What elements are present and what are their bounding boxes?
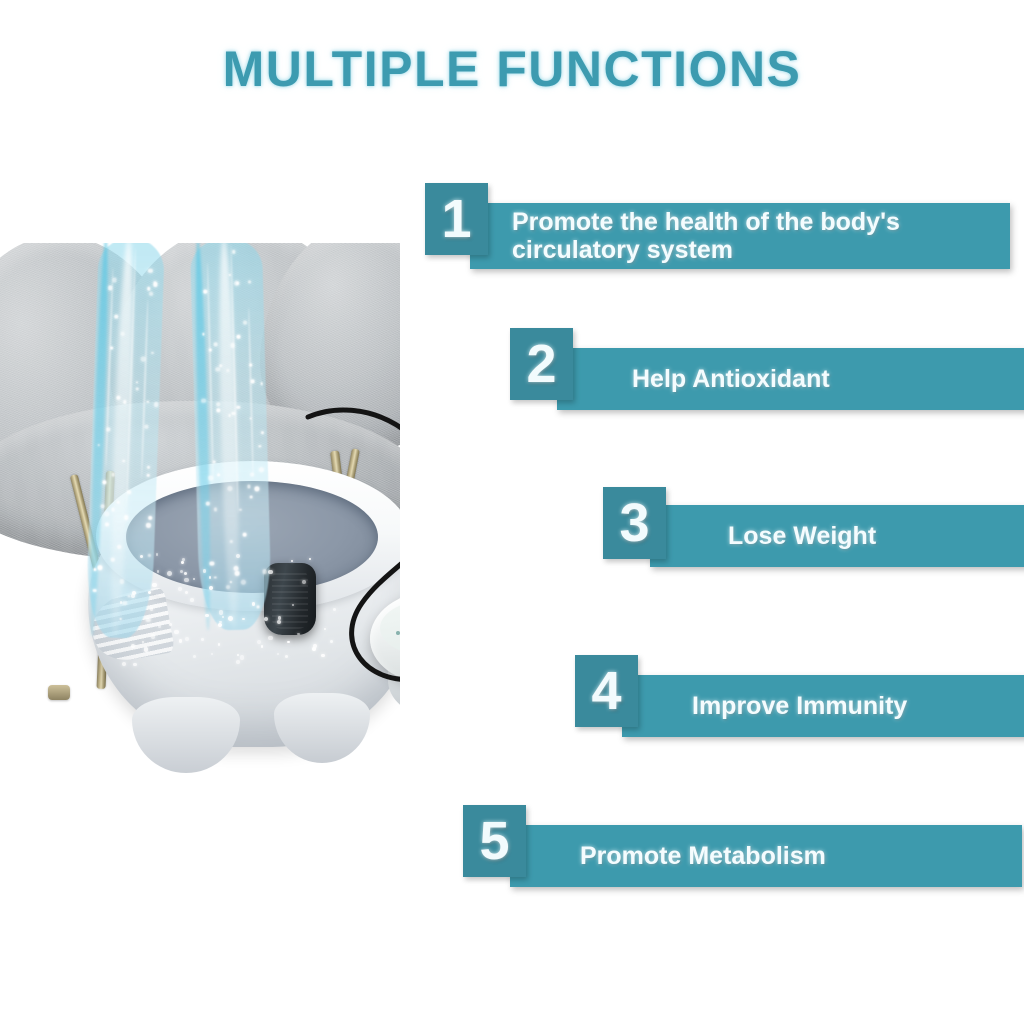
bubble <box>105 522 109 526</box>
bubble <box>105 511 110 516</box>
bubble <box>98 565 103 570</box>
bubble <box>261 645 264 648</box>
bubble <box>102 480 107 485</box>
bubble <box>110 347 113 350</box>
bubble <box>146 400 149 403</box>
bubble <box>235 571 240 576</box>
bubble <box>243 532 247 536</box>
bubble <box>190 598 194 602</box>
bubble <box>236 281 239 284</box>
bubble <box>184 578 188 582</box>
bubble <box>321 654 324 657</box>
bubble <box>114 314 118 318</box>
bubble <box>122 601 127 606</box>
bubble <box>147 466 150 469</box>
bubble <box>243 321 247 325</box>
bubble <box>251 379 255 383</box>
bubble <box>169 623 172 626</box>
function-number-3: 3 <box>603 487 666 559</box>
bubble <box>149 292 153 296</box>
bubble <box>324 628 326 630</box>
bubble <box>111 508 115 512</box>
bubble <box>239 508 242 511</box>
function-number-5: 5 <box>463 805 526 877</box>
bubble <box>209 349 212 352</box>
bubble <box>214 342 218 346</box>
water-column-right <box>190 243 272 631</box>
bubble <box>250 495 253 498</box>
bubble <box>157 570 159 572</box>
bubble <box>113 278 117 282</box>
bubble <box>131 594 135 598</box>
bubble <box>127 490 131 494</box>
function-label-4: Improve Immunity <box>692 692 907 720</box>
bubble <box>182 558 185 561</box>
bubble <box>93 568 96 571</box>
function-number-2: 2 <box>510 328 573 400</box>
bubble <box>107 428 111 432</box>
bubble <box>241 580 246 585</box>
bubble <box>116 396 120 400</box>
bubble <box>261 431 265 435</box>
function-bar-5[interactable]: Promote Metabolism <box>510 825 1022 887</box>
function-label-3: Lose Weight <box>728 522 876 550</box>
basin-foot-left <box>132 697 240 773</box>
bubble <box>228 616 233 621</box>
product-photo: THERMAL <box>0 243 400 815</box>
bubble <box>120 601 122 603</box>
bubble <box>209 561 214 566</box>
bubble <box>146 618 151 623</box>
function-number-1: 1 <box>425 183 488 255</box>
bubble <box>141 357 146 362</box>
bubble <box>209 586 213 590</box>
bubble <box>140 555 143 558</box>
bubble <box>214 508 217 511</box>
bubble <box>248 281 251 284</box>
bubble <box>201 398 205 402</box>
bubble <box>330 640 333 643</box>
bubble <box>255 487 260 492</box>
bubble <box>201 638 204 641</box>
chair-leg-tip <box>48 685 70 700</box>
bubble <box>203 289 207 293</box>
bubble <box>237 335 241 339</box>
bubble <box>237 406 240 409</box>
bubble <box>148 554 151 557</box>
bubble <box>206 501 211 506</box>
bubble <box>156 553 159 556</box>
basin-foot-right <box>274 693 370 763</box>
bubble <box>236 660 240 664</box>
page-title: MULTIPLE FUNCTIONS <box>0 40 1024 98</box>
bubble <box>208 476 213 481</box>
bubble <box>123 400 127 404</box>
bubble <box>135 387 138 390</box>
function-label-5: Promote Metabolism <box>580 842 826 870</box>
bubble <box>268 636 272 640</box>
vein <box>141 299 149 479</box>
bubble <box>259 467 264 472</box>
bubble <box>268 570 273 575</box>
bubble <box>262 570 266 574</box>
bubble <box>150 607 153 610</box>
bubble <box>120 579 124 583</box>
function-bar-4[interactable]: Improve Immunity <box>622 675 1024 737</box>
bubble <box>259 445 261 447</box>
bubble <box>131 644 135 648</box>
bubble <box>213 460 216 463</box>
bubble <box>257 605 260 608</box>
function-label-2: Help Antioxidant <box>632 365 830 393</box>
bubble <box>152 583 156 587</box>
function-label-1: Promote the health of the body's circula… <box>512 208 900 264</box>
bubble <box>227 486 232 491</box>
bubble <box>151 352 153 354</box>
bubble <box>214 576 216 578</box>
bubble <box>148 268 153 273</box>
bubble <box>120 618 123 621</box>
bubble <box>247 485 251 489</box>
bubble <box>333 608 336 611</box>
bubble <box>249 364 252 367</box>
function-bar-2[interactable]: Help Antioxidant <box>557 348 1024 410</box>
bubble <box>133 663 137 667</box>
bubble <box>144 425 148 429</box>
bubble <box>101 505 105 509</box>
bubble <box>215 367 220 372</box>
pod-dot <box>396 631 400 635</box>
bubble <box>124 516 128 520</box>
bubble <box>217 473 220 476</box>
infographic-canvas: MULTIPLE FUNCTIONS <box>0 0 1024 1024</box>
bubble <box>203 569 206 572</box>
bubble <box>128 595 130 597</box>
bubble <box>232 250 236 254</box>
bubble <box>185 591 188 594</box>
bubble <box>153 281 156 284</box>
bubble <box>146 523 151 528</box>
function-bar-3[interactable]: Lose Weight <box>650 505 1024 567</box>
bubble <box>205 614 209 618</box>
bubble <box>181 561 183 563</box>
bubble <box>250 472 254 476</box>
bubble <box>211 653 213 655</box>
bubble <box>147 287 151 291</box>
vein <box>248 307 254 477</box>
bubble <box>110 558 114 562</box>
bubble <box>260 382 263 385</box>
bubble <box>144 647 148 651</box>
bubble <box>148 516 152 520</box>
bubble <box>154 402 159 407</box>
function-bar-1[interactable]: Promote the health of the body's circula… <box>470 203 1010 269</box>
bubble <box>147 473 150 476</box>
bubble <box>136 381 138 383</box>
bubble <box>240 655 244 659</box>
function-number-4: 4 <box>575 655 638 727</box>
